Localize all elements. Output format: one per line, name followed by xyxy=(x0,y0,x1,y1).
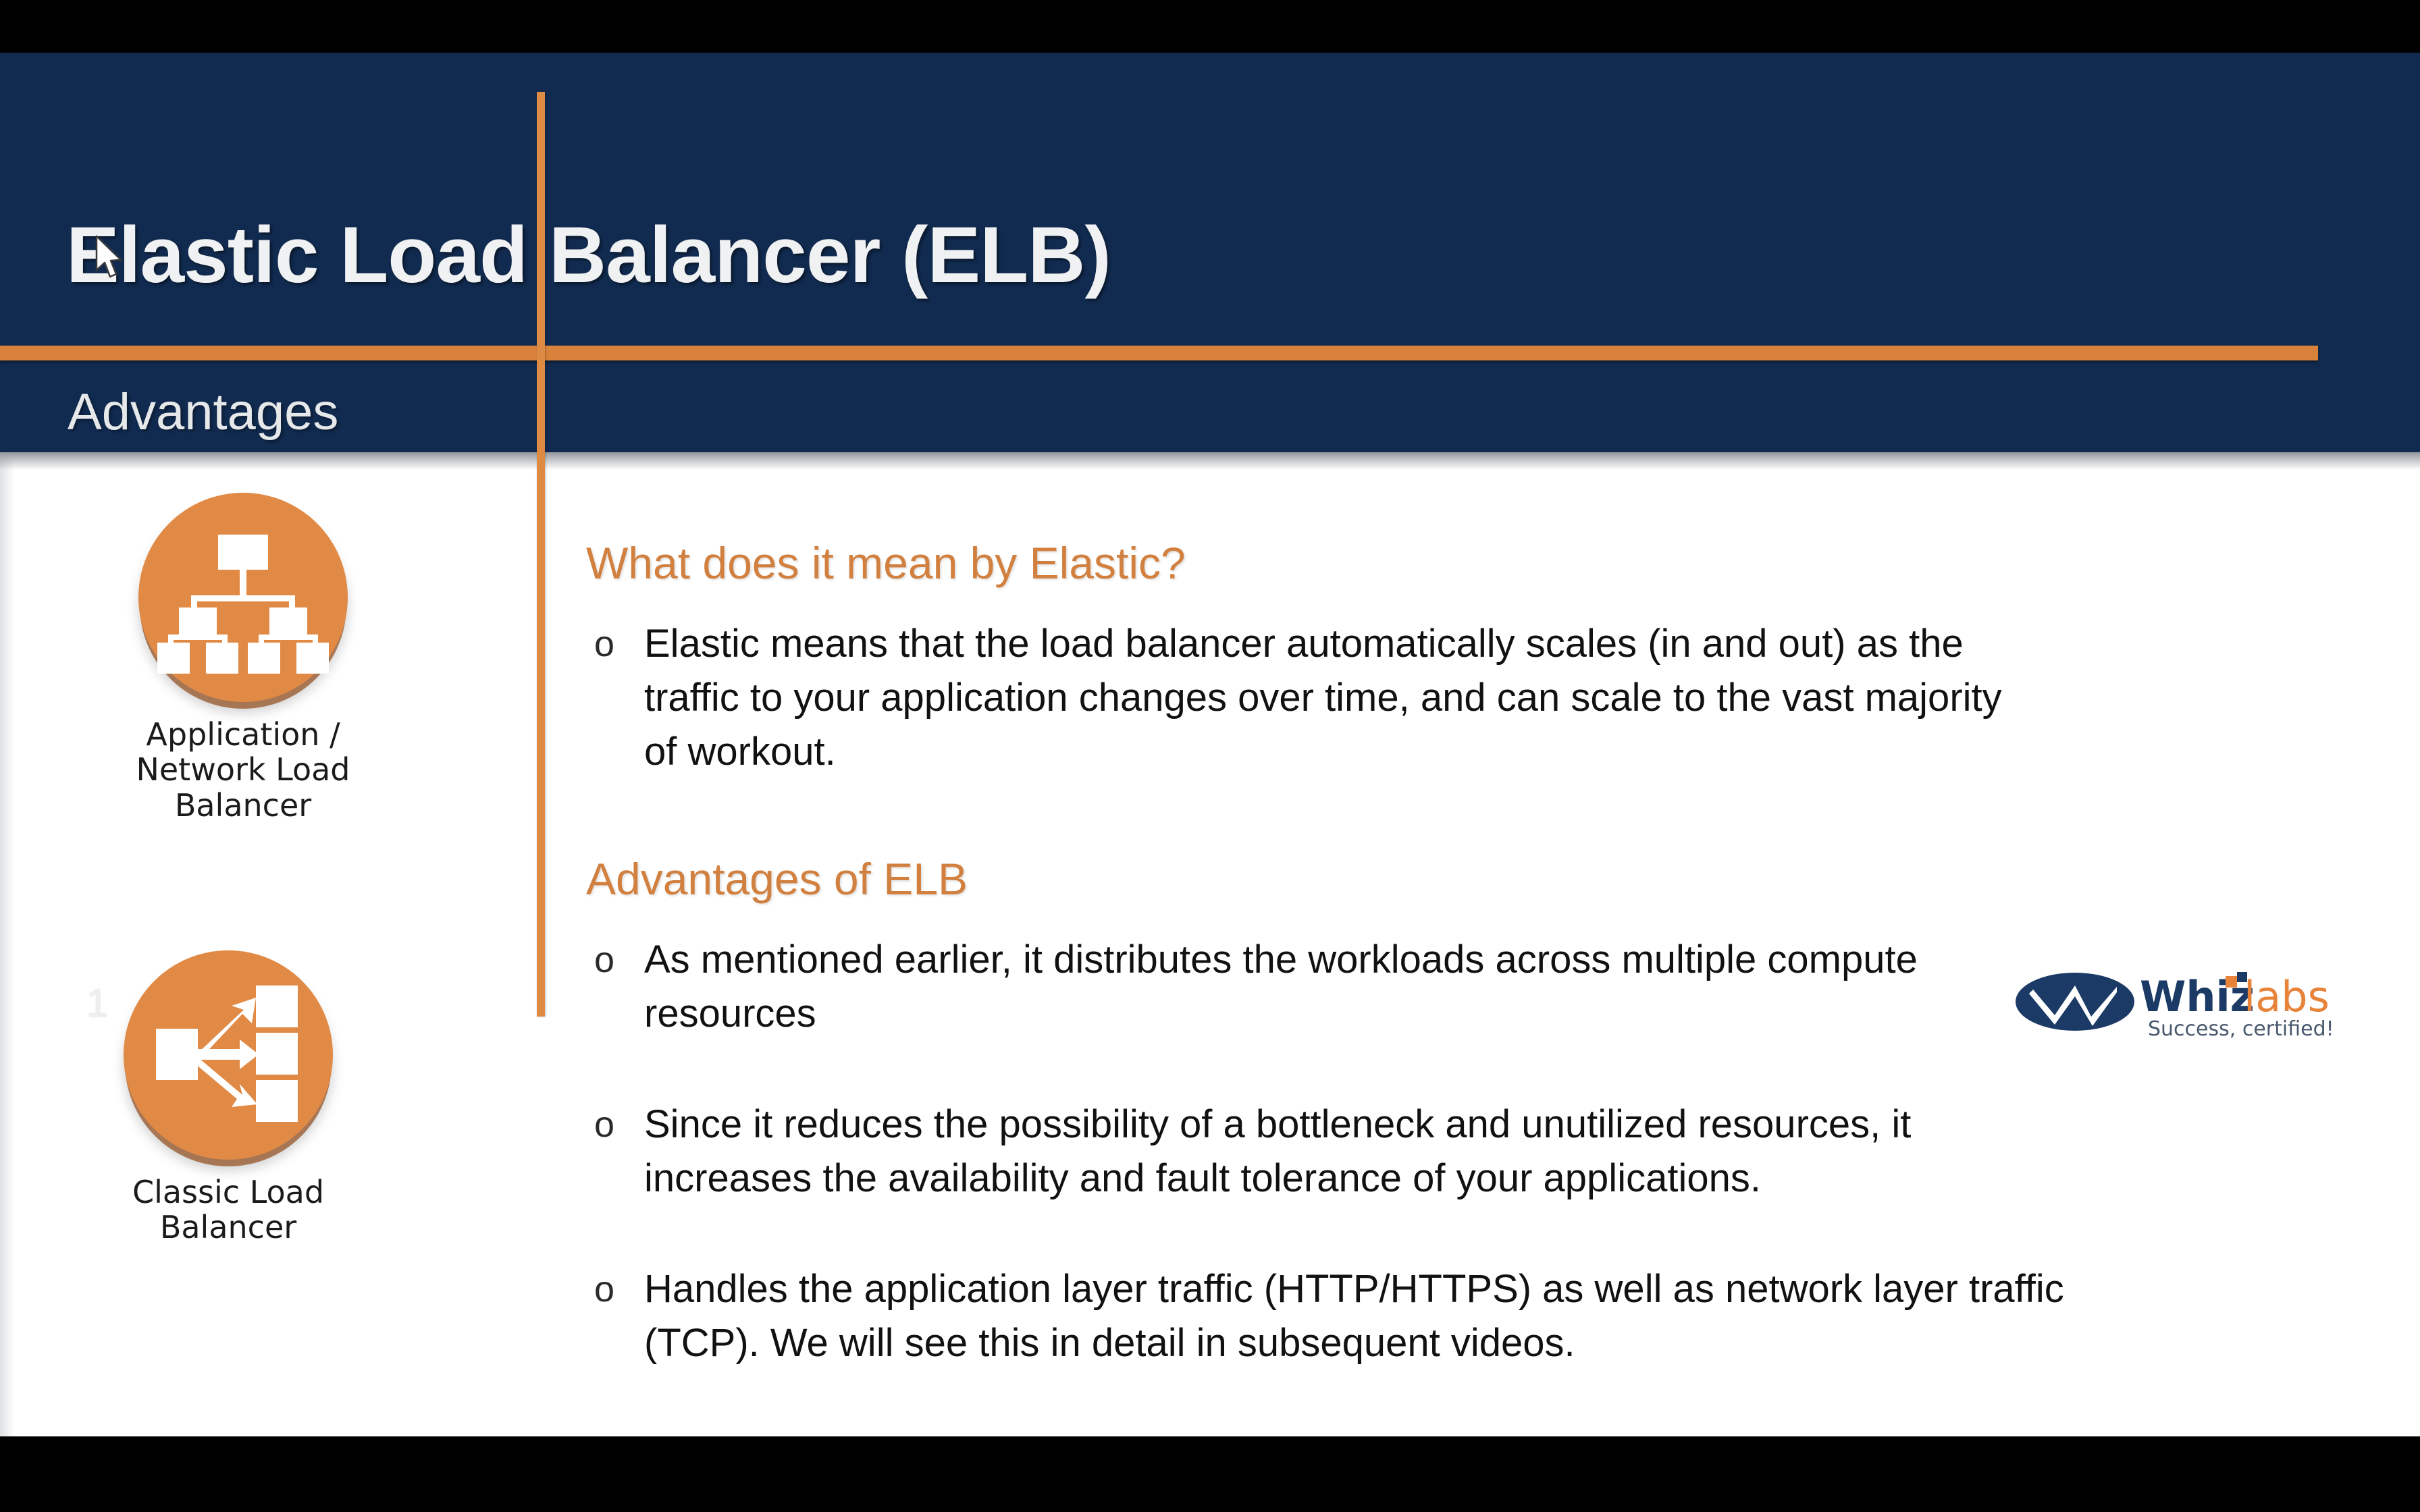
bullet-item: o Elastic means that the load balancer a… xyxy=(586,617,2247,779)
bullet-line: Handles the application layer traffic (H… xyxy=(644,1262,2247,1316)
caption-line: Application / xyxy=(101,717,385,752)
caption-line: Balancer xyxy=(86,1210,370,1245)
bullet-text: Elastic means that the load balancer aut… xyxy=(644,617,2247,779)
slide-body-content: What does it mean by Elastic? o Elastic … xyxy=(586,470,2315,1435)
whizlabs-logo: Whiz labs Success, certified! xyxy=(2016,963,2367,1044)
bullet-text: Since it reduces the possibility of a bo… xyxy=(644,1098,2247,1206)
bullet-marker-icon: o xyxy=(586,1098,644,1152)
caption-line: Balancer xyxy=(101,788,385,823)
bullet-marker-icon: o xyxy=(586,933,644,987)
page-number: 1 xyxy=(86,981,108,1026)
bullet-item: o As mentioned earlier, it distributes t… xyxy=(586,933,2247,1041)
bullet-item: o Handles the application layer traffic … xyxy=(586,1262,2247,1370)
bullet-marker-icon: o xyxy=(586,1262,644,1316)
bullet-line: traffic to your application changes over… xyxy=(644,671,2247,725)
list-item: Application / Network Load Balancer xyxy=(101,493,385,823)
vertical-divider xyxy=(537,92,545,1017)
bullet-line: Since it reduces the possibility of a bo… xyxy=(644,1098,2247,1152)
svg-text:Success, certified!: Success, certified! xyxy=(2148,1017,2334,1041)
bullet-line: increases the availability and fault tol… xyxy=(644,1152,2247,1206)
caption-line: Network Load xyxy=(101,752,385,787)
presentation-slide: Elastic Load Balancer (ELB) Advantages xyxy=(0,53,2420,1436)
svg-text:labs: labs xyxy=(2244,972,2330,1021)
letterbox-bottom xyxy=(0,1436,2420,1512)
caption-line: Classic Load xyxy=(86,1174,370,1210)
bullet-line: As mentioned earlier, it distributes the… xyxy=(644,933,2247,987)
bullet-text: As mentioned earlier, it distributes the… xyxy=(644,933,2247,1041)
letterbox-top xyxy=(0,0,2420,53)
section-heading-elastic: What does it mean by Elastic? xyxy=(586,537,1186,589)
title-underline-rule xyxy=(0,346,2318,360)
application-network-load-balancer-icon xyxy=(138,493,348,702)
list-item: Classic Load Balancer xyxy=(86,950,370,1245)
load-balancer-icon-column: Application / Network Load Balancer xyxy=(0,470,500,1435)
bullet-marker-icon: o xyxy=(586,617,644,671)
page-title: Elastic Load Balancer (ELB) xyxy=(66,209,1111,301)
bullet-line: resources xyxy=(644,987,2247,1041)
list-item-label: Classic Load Balancer xyxy=(86,1174,370,1245)
list-item-label: Application / Network Load Balancer xyxy=(101,717,385,823)
page-subtitle: Advantages xyxy=(68,383,338,441)
bullet-line: of workout. xyxy=(644,725,2247,779)
bullet-line: Elastic means that the load balancer aut… xyxy=(644,617,2247,671)
bullet-text: Handles the application layer traffic (H… xyxy=(644,1262,2247,1370)
bullet-line: (TCP). We will see this in detail in sub… xyxy=(644,1316,2247,1370)
section-heading-advantages: Advantages of ELB xyxy=(586,853,968,905)
classic-load-balancer-icon xyxy=(124,950,333,1160)
header-drop-shadow xyxy=(0,452,2420,470)
bullet-item: o Since it reduces the possibility of a … xyxy=(586,1098,2247,1206)
video-player-viewport: Elastic Load Balancer (ELB) Advantages xyxy=(0,0,2420,1512)
